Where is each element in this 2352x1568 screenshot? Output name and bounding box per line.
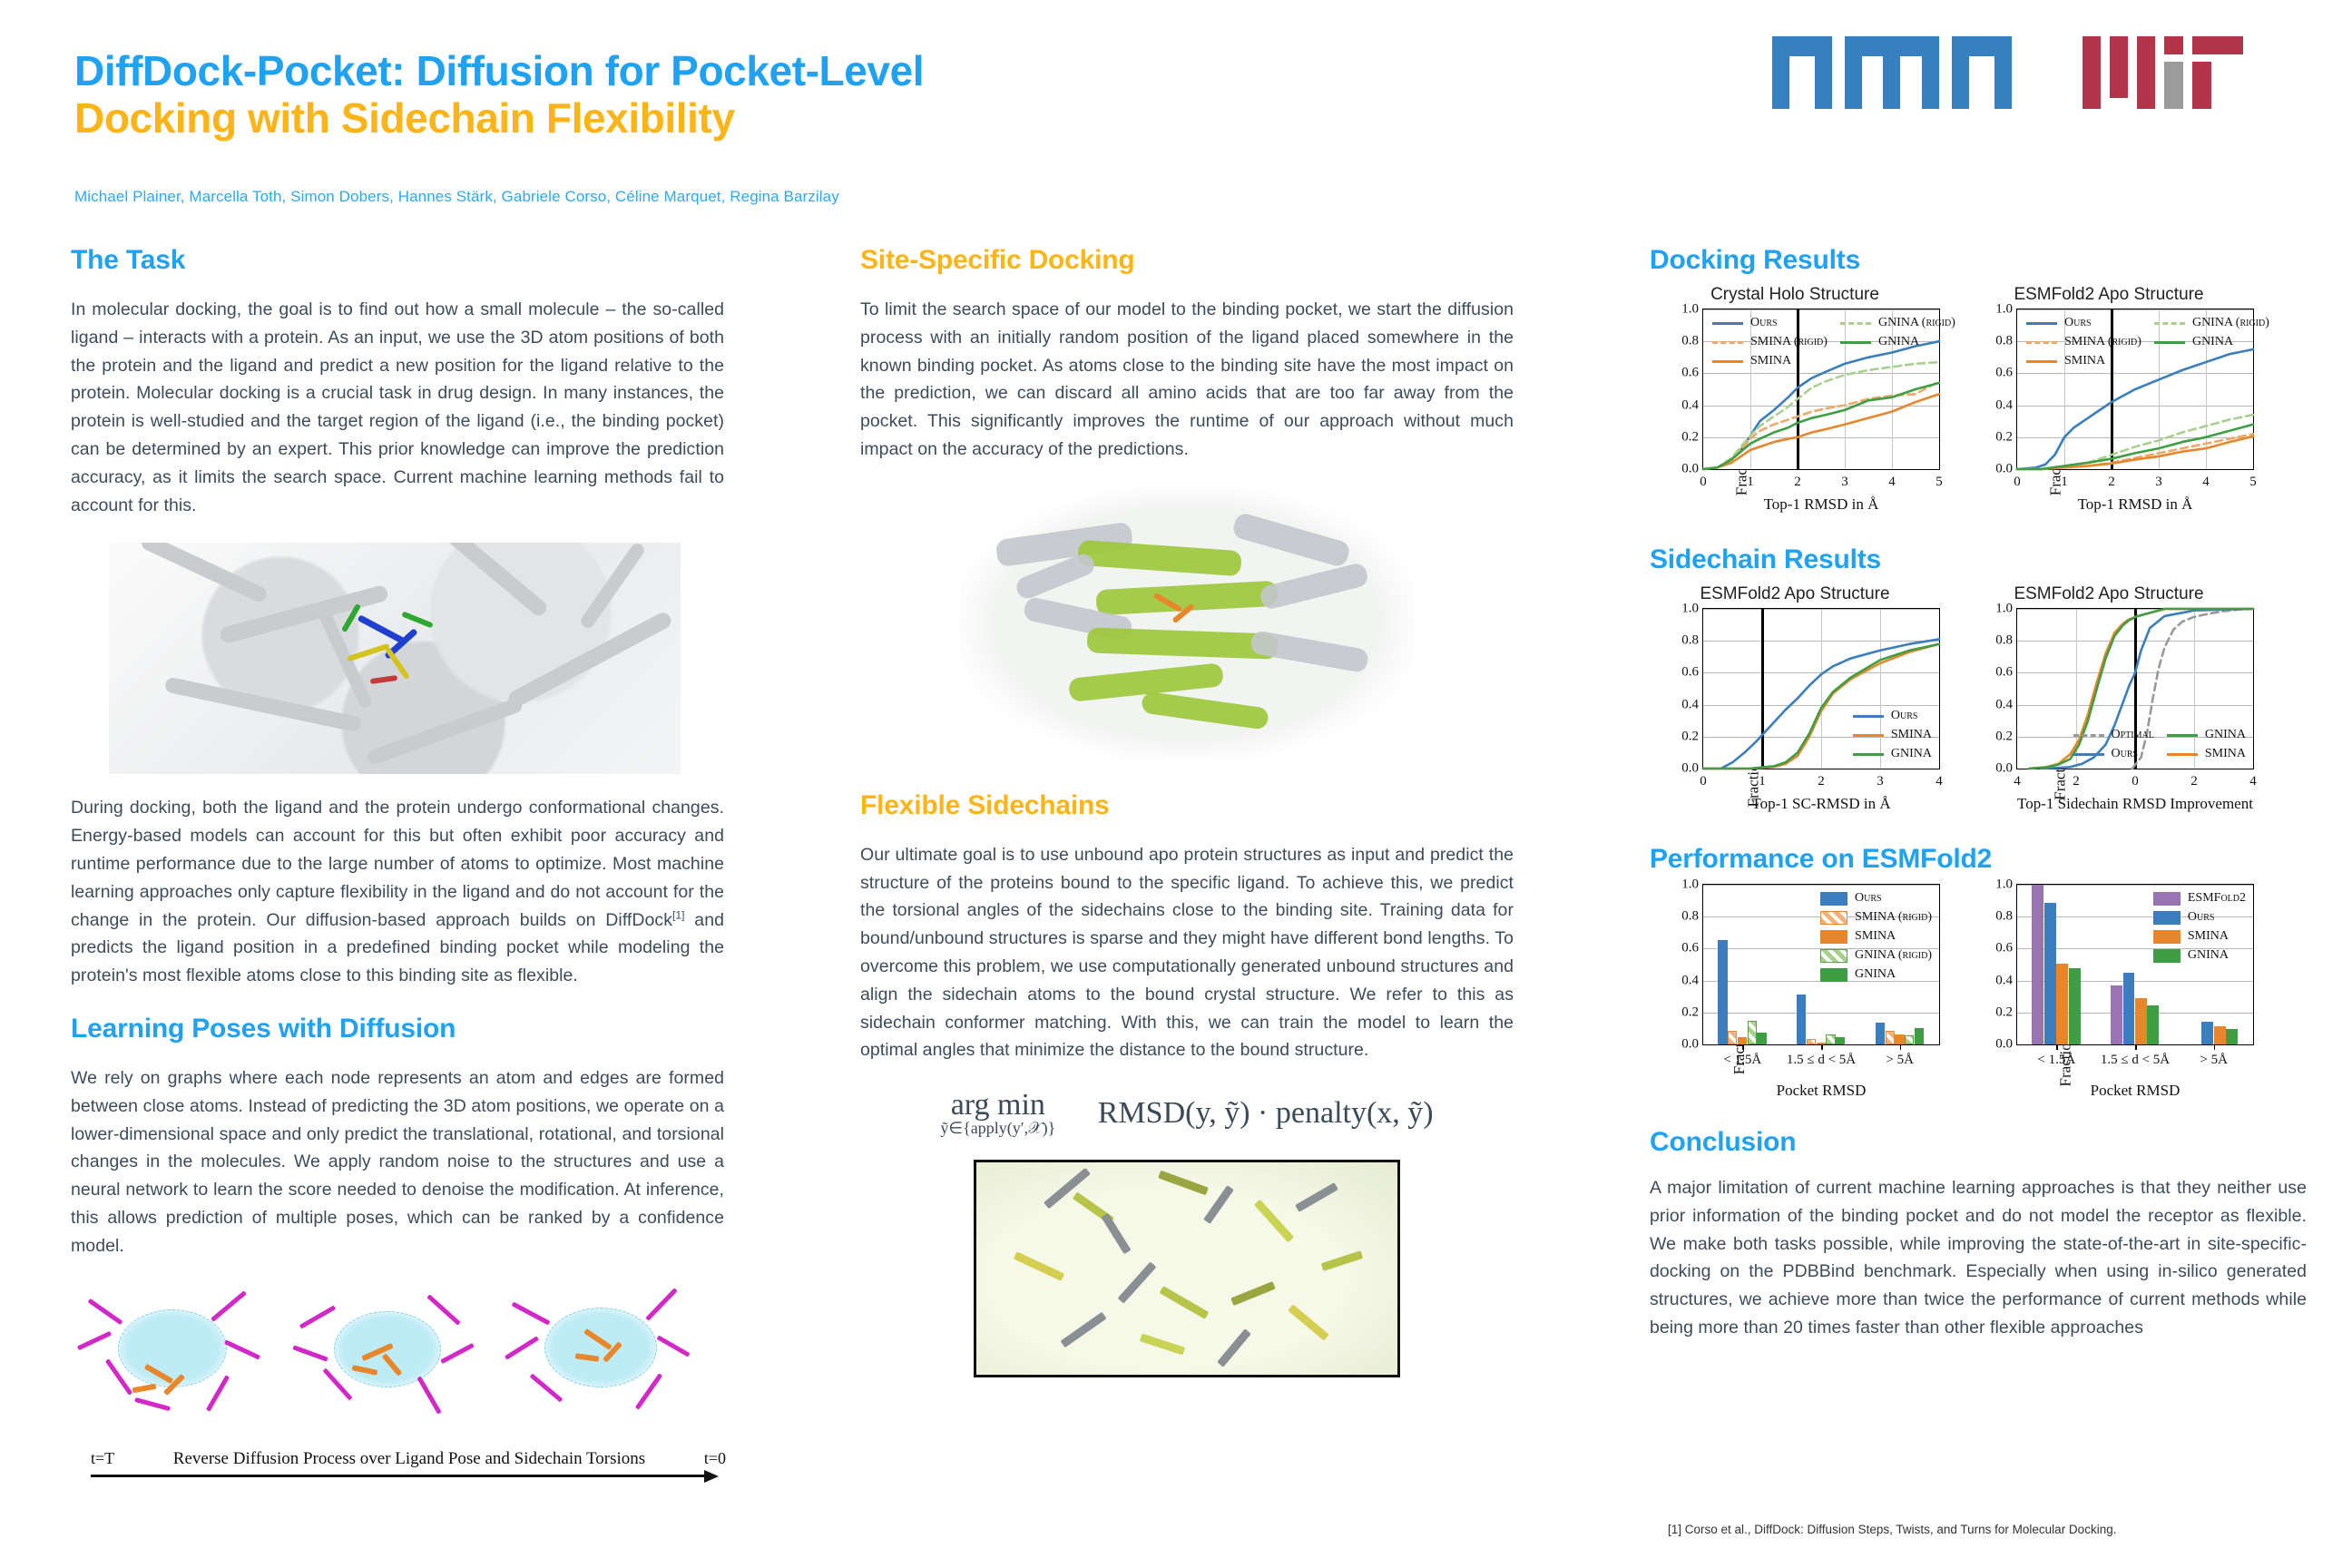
legend-item: SMINA (rigid) [2026,335,2141,349]
series-smina-rigid- [2017,434,2253,469]
y-axis-tick: 0.6 [1995,665,2013,681]
gridline [2017,885,2253,886]
y-axis-tick: 0.6 [1681,941,1699,956]
x-axis-tick: 5 [2249,475,2257,490]
legend-item: Ours [1712,316,1828,330]
y-axis-tick: 0.6 [1681,366,1699,381]
legend-label: GNINA (rigid) [2192,316,2269,330]
bar-ours [1718,940,1727,1044]
chart-sidechain-rmsd-improvement: ESMFold2 Apo Structure Fraction with les… [1964,584,2254,813]
y-axis-tick: 1.0 [1995,877,2013,893]
legend-swatch [2167,753,2198,756]
x-axis-tick: 4 [1935,774,1943,789]
bar-ours [2044,903,2056,1044]
legend-label: SMINA [1891,728,1932,742]
axis-tick-mark [2056,1044,2058,1050]
x-axis-tick: 2 [2190,774,2198,789]
sidechain-conformer-image [974,1160,1400,1377]
logo-group [1772,36,2243,109]
chart-performance-pocket-rmsd: Fraction with RMSD < 2Å 0.00.20.40.60.81… [1650,884,1940,1100]
y-axis-tick: 0.2 [1995,1004,2013,1020]
legend-item: GNINA [1840,335,1955,349]
y-axis-tick: 0.8 [1995,334,2013,349]
x-axis-tick: 2 [2073,774,2080,789]
series-smina [1703,394,1939,469]
poster-header: DiffDock-Pocket: Diffusion for Pocket-Le… [0,0,2352,181]
x-axis-tick: 0 [2014,475,2021,490]
poster-title: DiffDock-Pocket: Diffusion for Pocket-Le… [74,47,924,142]
chart-legend: OursGNINA (rigid)SMINA (rigid)GNINASMINA [2026,316,2269,368]
legend-swatch [1840,322,1871,325]
legend-swatch [1820,968,1847,982]
y-axis-tick: 0.4 [1995,397,2013,413]
formula-expression: RMSD(y, ỹ) · penalty(x, ỹ) [1098,1096,1434,1131]
legend-label: ESMFold2 [2188,891,2246,906]
chart-sidechain-sc-rmsd: ESMFold2 Apo Structure Fraction with low… [1650,584,1940,813]
legend-item: Ours [1820,891,1932,906]
plot-area: 0.00.20.40.60.81.0< 1.5Å1.5 ≤ d < 5Å> 5Å… [1702,884,1940,1045]
legend-swatch [2153,949,2180,963]
protein-structure-image [960,487,1414,759]
legend-item: GNINA (rigid) [1840,316,1955,330]
legend-item: GNINA [2167,728,2246,742]
legend-swatch [2153,930,2180,944]
legend-item: SMINA [2026,354,2141,368]
legend-label: Ours [2064,316,2092,330]
x-axis-tick: 2 [2108,475,2115,490]
y-axis-tick: 0.8 [1995,633,2013,649]
legend-label: SMINA (rigid) [2064,335,2141,349]
bar-smina-rigid- [1886,1031,1895,1044]
legend-item: Ours [2026,316,2141,330]
legend-item: SMINA [1712,354,1828,368]
x-axis-category-label: > 5Å [2200,1053,2228,1068]
bar-ours [1797,995,1806,1044]
bar-gnina [1757,1033,1766,1044]
legend-label: GNINA [2192,335,2233,349]
bar-gnina-rigid- [1905,1035,1914,1044]
chart-xlabel: Top-1 SC-RMSD in Å [1702,795,1940,813]
citation-marker: [1] [672,908,685,921]
bar-smina [2135,998,2147,1044]
plot-area: 0.00.20.40.60.81.0012345OursGNINA (rigid… [1702,309,1940,470]
legend-swatch [1853,734,1884,737]
legend-label: SMINA (rigid) [1750,335,1828,349]
sidechain-results-charts: ESMFold2 Apo Structure Fraction with low… [1650,584,2307,813]
docking-results-charts: Crystal Holo Structure Fraction with low… [1650,285,2307,514]
legend-label: GNINA [1878,335,1919,349]
x-axis-category-label: 1.5 ≤ d < 5Å [2101,1053,2170,1068]
conclusion-paragraph: A major limitation of current machine le… [1650,1174,2307,1342]
legend-item: GNINA [1853,747,1932,761]
bar-smina-rigid- [1807,1039,1816,1044]
x-axis-category-label: < 1.5Å [2037,1053,2075,1068]
legend-label: GNINA [1891,747,1932,761]
legend-label: Ours [2188,910,2215,925]
legend-swatch [2154,322,2185,325]
legend-item: SMINA (rigid) [1712,335,1828,349]
legend-swatch [2073,734,2104,737]
diffusion-step-image [499,1284,701,1438]
section-heading-site-specific: Site-Specific Docking [860,245,1514,276]
x-axis-tick: 0 [1700,475,1707,490]
legend-label: GNINA [2205,728,2246,742]
bar-smina [1895,1034,1904,1044]
plot-area: 0.00.20.40.60.81.0< 1.5Å1.5 ≤ d < 5Å> 5Å… [2016,884,2254,1045]
bar-ours [2123,973,2135,1044]
y-axis-tick: 0.0 [1995,1037,2013,1053]
x-axis-category-label: 1.5 ≤ d < 5Å [1787,1053,1856,1068]
diffusion-timeline: t=T Reverse Diffusion Process over Ligan… [91,1449,726,1481]
x-axis-tick: 1 [2061,475,2068,490]
chart-docking-crystal-holo: Crystal Holo Structure Fraction with low… [1650,285,1940,514]
legend-swatch [1820,911,1847,925]
legend-label: SMINA [1855,929,1896,944]
x-axis-tick: 5 [1935,475,1943,490]
bar-smina [2214,1026,2226,1044]
legend-item: GNINA (rigid) [1820,948,1932,963]
y-axis-tick: 0.4 [1681,397,1699,413]
legend-swatch [2154,341,2185,344]
diffusion-step-image [71,1284,272,1438]
chart-legend: OursSMINAGNINA [1853,709,1932,761]
legend-label: SMINA [2188,929,2229,944]
legend-label: Ours [1750,316,1778,330]
x-axis-tick: 4 [1888,475,1896,490]
author-list: Michael Plainer, Marcella Toth, Simon Do… [74,188,839,206]
legend-swatch [1820,949,1847,963]
y-axis-tick: 0.2 [1995,729,2013,744]
x-axis-tick: 4 [2249,774,2257,789]
legend-swatch [2167,734,2198,737]
bar-smina-rigid- [1728,1031,1737,1044]
bar-ours [1876,1023,1885,1044]
y-axis-tick: 0.8 [1681,633,1699,649]
legend-item: SMINA [2167,747,2246,761]
legend-swatch [2073,753,2104,756]
y-axis-tick: 0.6 [1995,941,2013,956]
y-axis-tick: 0.2 [1995,429,2013,445]
legend-label: Ours [1855,891,1882,906]
y-axis-tick: 0.8 [1681,334,1699,349]
section-heading-conclusion: Conclusion [1650,1127,2307,1158]
task-p2-a: During docking, both the ligand and the … [71,798,724,929]
legend-swatch [1820,892,1847,906]
chart-legend: OursSMINA (rigid)SMINAGNINA (rigid)GNINA [1820,891,1932,982]
legend-item: SMINA [2153,929,2246,944]
footnote-reference: [1] Corso et al., DiffDock: Diffusion St… [1668,1523,2116,1536]
legend-item: GNINA [1820,967,1932,982]
site-specific-paragraph: To limit the search space of our model t… [860,296,1514,464]
legend-swatch [2153,892,2180,906]
bar-esmfold2 [2032,885,2043,1044]
legend-item: GNINA (rigid) [2154,316,2269,330]
section-heading-learning-poses: Learning Poses with Diffusion [71,1014,724,1044]
y-axis-tick: 0.2 [1681,1004,1699,1020]
x-axis-category-label: > 5Å [1886,1053,1914,1068]
x-axis-tick: 0 [1700,774,1707,789]
y-axis-tick: 0.4 [1995,973,2013,988]
chart-performance-sc-rmsd: Fraction with SC-RMSD < 2Å 0.00.20.40.60… [1964,884,2254,1100]
poses-paragraph: We rely on graphs where each node repres… [71,1064,724,1260]
diffusion-step-image [285,1284,486,1438]
section-heading-flexible-sidechains: Flexible Sidechains [860,790,1514,821]
chart-xlabel: Top-1 RMSD in Å [2016,495,2254,514]
axis-tick-mark [1900,1044,1902,1050]
x-axis-tick: 2 [1818,774,1825,789]
y-axis-tick: 0.6 [1681,665,1699,681]
bar-gnina [2226,1029,2238,1044]
y-axis-tick: 1.0 [1681,602,1699,617]
legend-item: Optimal [2073,728,2154,742]
legend-item: Ours [1853,709,1932,723]
legend-label: SMINA [1750,354,1791,368]
column-middle: Site-Specific Docking To limit the searc… [860,245,1514,1377]
legend-label: SMINA [2064,354,2105,368]
section-heading-docking-results: Docking Results [1650,245,2307,276]
legend-swatch [1712,322,1743,325]
task-paragraph-2: During docking, both the ligand and the … [71,794,724,990]
bar-gnina [2147,1005,2159,1044]
x-axis-tick: 4 [2202,475,2210,490]
axis-tick-mark [1742,1044,1744,1050]
tum-logo [1772,36,2012,109]
legend-swatch [2026,341,2057,344]
chart-xlabel: Top-1 RMSD in Å [1702,495,1940,514]
bar-smina [2056,964,2068,1044]
legend-swatch [1712,360,1743,363]
y-axis-tick: 1.0 [1681,877,1699,893]
legend-item: ESMFold2 [2153,891,2246,906]
y-axis-tick: 0.0 [1995,462,2013,477]
timeline-label-start: t=T [91,1449,114,1468]
y-axis-tick: 0.6 [1995,366,2013,381]
timeline-arrow-icon [91,1472,726,1481]
legend-item: SMINA [1820,929,1932,944]
formula-subscript: ỹ∈{apply(y′,𝒳)} [940,1119,1055,1138]
plot-area: 0.00.20.40.60.81.001234OursSMINAGNINA [1702,608,1940,769]
y-axis-tick: 0.4 [1681,973,1699,988]
x-axis-tick: 3 [2155,475,2162,490]
legend-label: Ours [2112,747,2139,761]
y-axis-tick: 0.2 [1681,729,1699,744]
bar-gnina [1915,1028,1924,1044]
bar-gnina-rigid- [1826,1034,1835,1044]
task-paragraph-1: In molecular docking, the goal is to fin… [71,296,724,519]
formula-argmin: arg min [951,1088,1045,1122]
x-axis-tick: 3 [1877,774,1884,789]
column-right: Docking Results Crystal Holo Structure F… [1650,245,2307,1349]
y-axis-tick: 0.0 [1995,761,2013,777]
bar-smina [1738,1037,1747,1044]
legend-label: GNINA (rigid) [1855,948,1932,963]
y-axis-tick: 1.0 [1995,302,2013,318]
chart-xlabel: Pocket RMSD [1702,1082,1940,1100]
binding-pocket-image [109,543,681,774]
gridline [1703,885,1939,886]
plot-area: 0.00.20.40.60.81.0012345OursGNINA (rigid… [2016,309,2254,470]
y-axis-tick: 0.4 [1995,697,2013,712]
x-axis-tick: 4 [2014,774,2021,789]
legend-swatch [1820,930,1847,944]
legend-item: Ours [2153,910,2246,925]
chart-legend: OursGNINA (rigid)SMINA (rigid)GNINASMINA [1712,316,1955,368]
y-axis-tick: 0.2 [1681,429,1699,445]
legend-label: Optimal [2112,728,2154,742]
performance-charts: Fraction with RMSD < 2Å 0.00.20.40.60.81… [1650,884,2307,1100]
chart-docking-esmfold2-apo: ESMFold2 Apo Structure Fraction with low… [1964,285,2254,514]
chart-legend: ESMFold2OursSMINAGNINA [2153,891,2246,963]
bar-gnina-rigid- [1748,1021,1757,1044]
gridline [1703,1013,1939,1014]
title-line-2: Docking with Sidechain Flexibility [74,94,924,142]
bar-gnina [2069,968,2081,1044]
legend-item: Ours [2073,747,2154,761]
flexible-sidechains-paragraph: Our ultimate goal is to use unbound apo … [860,841,1514,1064]
timeline-caption: Reverse Diffusion Process over Ligand Po… [173,1449,645,1469]
legend-swatch [2026,322,2057,325]
section-heading-sidechain-results: Sidechain Results [1650,544,2307,575]
y-axis-tick: 0.4 [1681,697,1699,712]
title-line-1: DiffDock-Pocket: Diffusion for Pocket-Le… [74,47,924,94]
axis-tick-mark [1821,1044,1823,1050]
timeline-label-end: t=0 [704,1449,726,1468]
y-axis-tick: 0.0 [1681,761,1699,777]
legend-item: GNINA [2153,948,2246,963]
section-heading-task: The Task [71,245,724,276]
legend-swatch [1840,341,1871,344]
x-axis-category-label: < 1.5Å [1723,1053,1761,1068]
bar-esmfold2 [2111,985,2122,1044]
y-axis-tick: 1.0 [1681,302,1699,318]
bar-ours [2201,1022,2213,1044]
legend-swatch [2026,360,2057,363]
y-axis-tick: 0.0 [1681,462,1699,477]
plot-area: 0.00.20.40.60.81.042024OptimalGNINAOursS… [2016,608,2254,769]
chart-xlabel: Pocket RMSD [2016,1082,2254,1100]
y-axis-tick: 0.8 [1995,909,2013,925]
objective-formula: arg min ỹ∈{apply(y′,𝒳)} RMSD(y, ỹ) · pen… [860,1088,1514,1138]
axis-tick-mark [2214,1044,2216,1050]
legend-swatch [1853,715,1884,718]
legend-swatch [1853,753,1884,756]
legend-label: SMINA [2205,747,2246,761]
x-axis-tick: 3 [1841,475,1848,490]
y-axis-tick: 1.0 [1995,602,2013,617]
chart-legend: OptimalGNINAOursSMINA [2073,728,2246,761]
legend-item: SMINA [1853,728,1932,742]
y-axis-tick: 0.0 [1681,1037,1699,1053]
y-axis-tick: 0.8 [1681,909,1699,925]
legend-label: GNINA (rigid) [1878,316,1955,330]
x-axis-tick: 1 [1747,475,1754,490]
legend-item: GNINA [2154,335,2269,349]
x-axis-tick: 2 [1794,475,1801,490]
diffusion-image-row [71,1284,724,1438]
section-heading-performance: Performance on ESMFold2 [1650,844,2307,875]
legend-label: Ours [1891,709,1918,723]
legend-swatch [2153,911,2180,925]
legend-label: GNINA [1855,967,1896,982]
x-axis-tick: 0 [2131,774,2139,789]
bar-gnina [1836,1037,1845,1044]
column-left: The Task In molecular docking, the goal … [71,245,724,1481]
legend-item: SMINA (rigid) [1820,910,1932,925]
legend-swatch [1712,341,1743,344]
x-axis-tick: 1 [1759,774,1766,789]
legend-label: SMINA (rigid) [1855,910,1932,925]
legend-label: GNINA [2188,948,2229,963]
axis-tick-mark [2135,1044,2137,1050]
mit-logo [2082,36,2243,109]
